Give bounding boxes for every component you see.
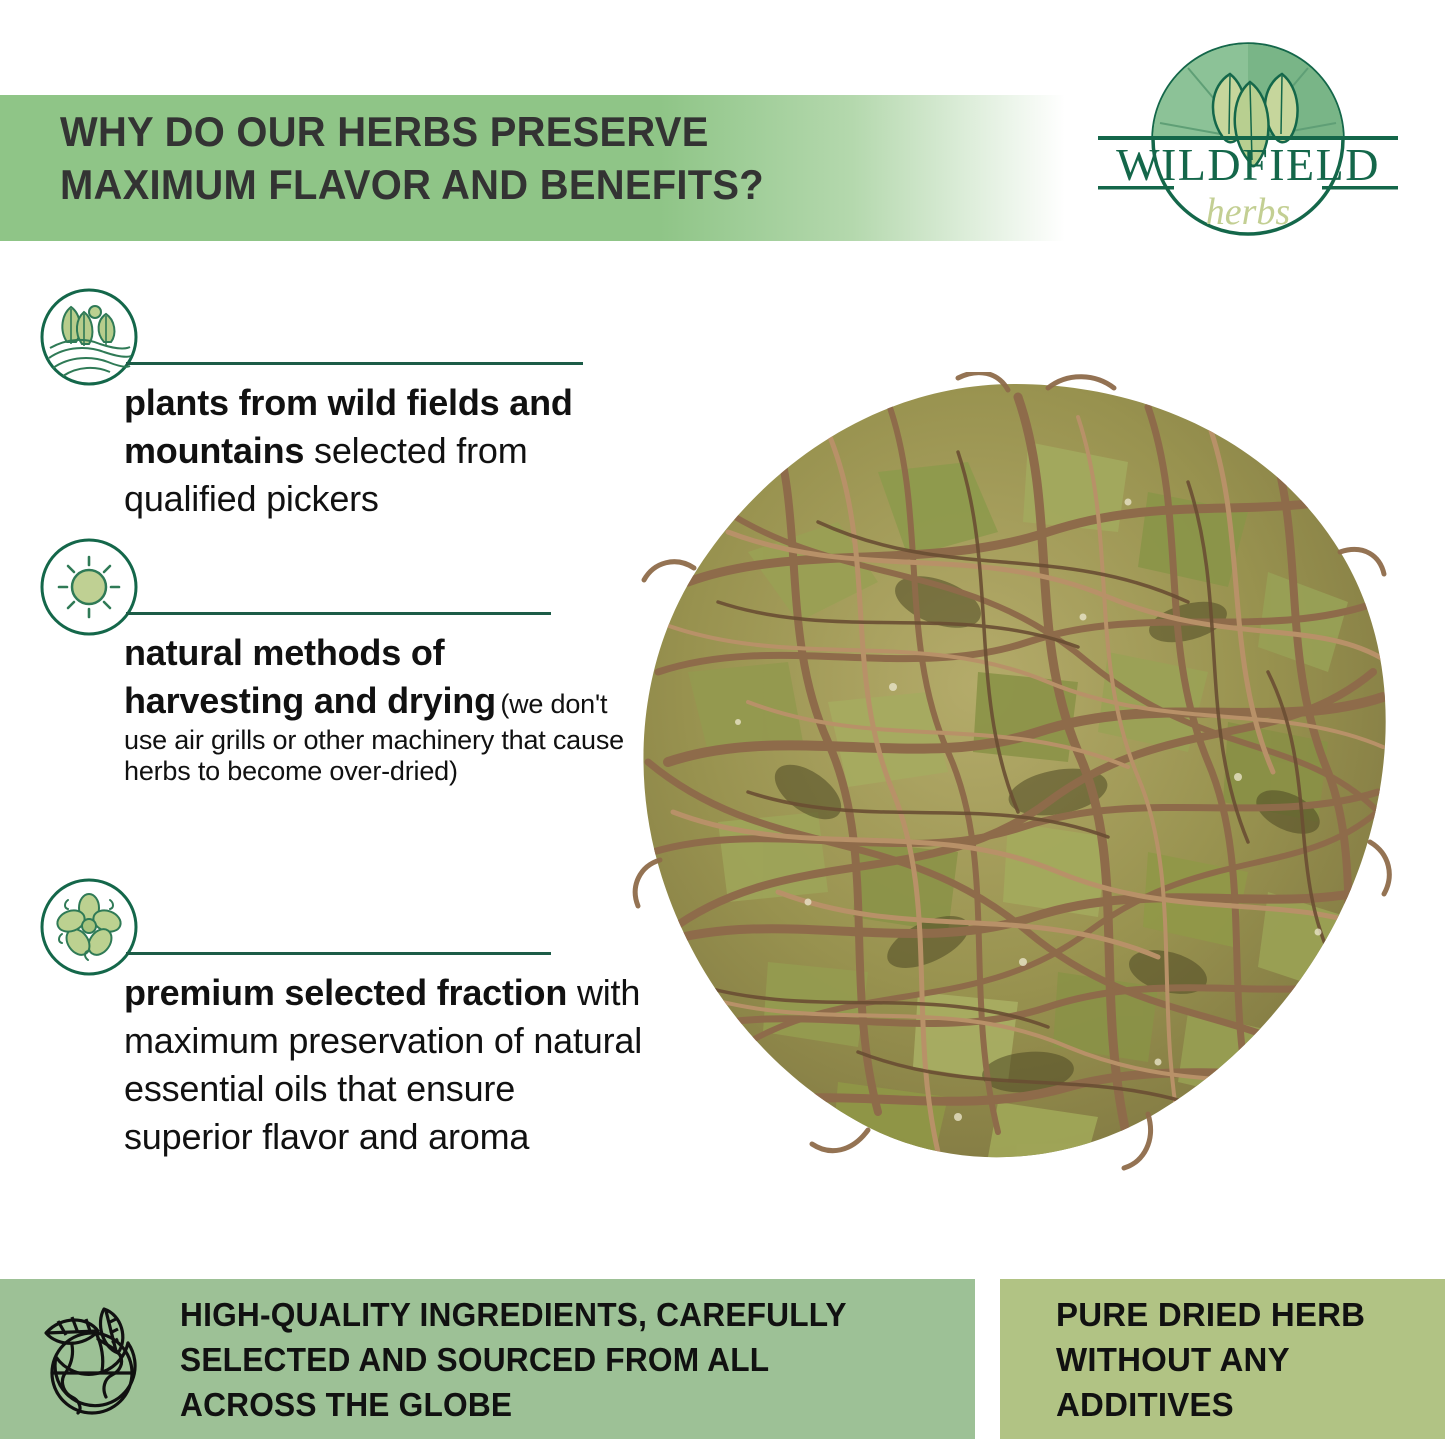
globe-leaf-icon bbox=[28, 1297, 154, 1423]
page-title-line-2: MAXIMUM FLAVOR AND BENEFITS? bbox=[60, 158, 972, 211]
feature-bold-text: natural methods of harvesting and drying bbox=[124, 632, 496, 721]
field-trees-icon bbox=[38, 286, 140, 388]
feature-divider-rule bbox=[126, 362, 583, 365]
feature-text-natural-methods: natural methods of harvesting and drying… bbox=[124, 629, 624, 787]
page-title: WHY DO OUR HERBS PRESERVE MAXIMUM FLAVOR… bbox=[60, 105, 972, 211]
feature-divider-rule bbox=[126, 612, 551, 615]
feature-text-premium-fraction: premium selected fraction with maximum p… bbox=[124, 969, 644, 1161]
banner-right-line-3: ADDITIVES bbox=[1056, 1382, 1436, 1427]
banner-left-text: HIGH-QUALITY INGREDIENTS, CAREFULLY SELE… bbox=[180, 1292, 929, 1427]
banner-left-line-2: SELECTED AND SOURCED FROM ALL bbox=[180, 1337, 929, 1382]
logo-subtext: herbs bbox=[1206, 191, 1290, 233]
flower-droplets-icon bbox=[38, 876, 140, 978]
feature-bold-text: premium selected fraction bbox=[124, 972, 567, 1013]
banner-high-quality-ingredients: HIGH-QUALITY INGREDIENTS, CAREFULLY SELE… bbox=[0, 1279, 975, 1439]
banner-right-line-1: PURE DRIED HERB bbox=[1056, 1292, 1436, 1337]
infographic-page: WHY DO OUR HERBS PRESERVE MAXIMUM FLAVOR… bbox=[0, 0, 1445, 1445]
banner-left-line-3: ACROSS THE GLOBE bbox=[180, 1382, 929, 1427]
feature-divider-rule bbox=[126, 952, 551, 955]
banner-left-line-1: HIGH-QUALITY INGREDIENTS, CAREFULLY bbox=[180, 1292, 929, 1337]
sun-icon bbox=[38, 536, 140, 638]
feature-text-wild-fields: plants from wild fields and mountains se… bbox=[124, 379, 644, 523]
banner-right-text: PURE DRIED HERB WITHOUT ANY ADDITIVES bbox=[1056, 1292, 1436, 1427]
banner-pure-dried-herb: PURE DRIED HERB WITHOUT ANY ADDITIVES bbox=[1000, 1279, 1445, 1439]
banner-right-line-2: WITHOUT ANY bbox=[1056, 1337, 1436, 1382]
brand-logo: WILDFIELD herbs bbox=[1098, 28, 1398, 256]
page-title-line-1: WHY DO OUR HERBS PRESERVE bbox=[60, 105, 972, 158]
logo-wordmark: WILDFIELD bbox=[1116, 139, 1380, 190]
product-photo-dried-herb bbox=[628, 372, 1400, 1194]
